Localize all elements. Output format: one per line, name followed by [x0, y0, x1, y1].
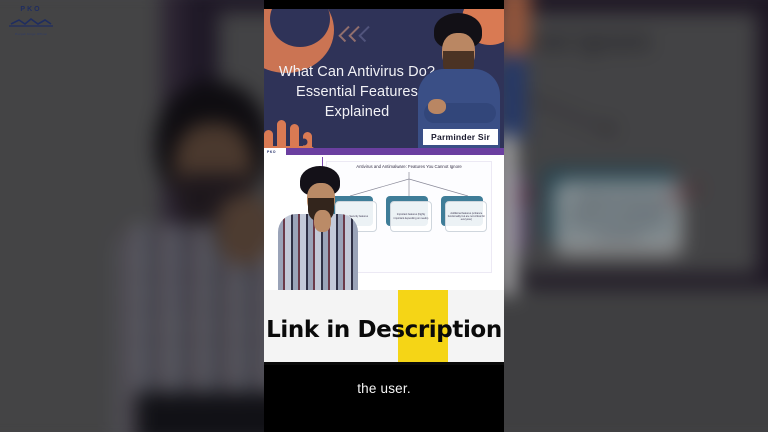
clip-feature-box-body: Additional features (enhance functionali… [445, 201, 487, 232]
background-scribble-right-icon [662, 180, 704, 203]
clip-presenter [274, 166, 360, 290]
video-player-stage: Features You Cannot Ignore Additional fe… [0, 0, 768, 432]
portrait-video-frame[interactable]: What Can Antivirus Do? Essential Feature… [264, 0, 504, 432]
clip-presenter-hand [314, 210, 331, 232]
clip-purple-header-bar [264, 148, 504, 155]
channel-logo: PKO Punjab Kings Offical [7, 6, 55, 32]
node-line-2: (enhance functionality [569, 205, 667, 217]
clip-feature-box-body: Important features (highly important dep… [390, 201, 432, 232]
background-highlight-node-label: Additional features (enhance functionali… [569, 192, 667, 245]
channel-logo-subtitle: Punjab Kings Offical [7, 32, 55, 37]
clip-brand-mark: PKO [267, 150, 276, 154]
inner-presentation-clip: PKO Antivirus and Antimalware: Features … [264, 148, 504, 290]
caption-bar: the user. [264, 365, 504, 432]
clip-feature-box-label: Additional features (enhance functionali… [447, 212, 485, 222]
node-line-4: everyone) [596, 231, 641, 243]
channel-logo-text: PKO [7, 6, 55, 14]
chevron-left-icon [342, 27, 371, 41]
node-line-3: but are not critical for [571, 218, 665, 230]
clip-feature-box-label: Important features (highly important dep… [392, 213, 430, 220]
presenter-name-badge: Parminder Sir [423, 129, 498, 145]
channel-logo-wave-icon [7, 17, 55, 27]
caption-text: the user. [264, 381, 504, 396]
clip-feature-box: Additional features (enhance functionali… [441, 196, 487, 234]
video-title-card: What Can Antivirus Do? Essential Feature… [264, 9, 504, 148]
link-in-description-banner: Link in Description [264, 290, 504, 365]
clip-feature-box: Important features (highly important dep… [386, 196, 432, 234]
title-card-hand-illustration [264, 112, 344, 148]
presenter-hand [428, 99, 446, 114]
title-card-presenter [406, 11, 502, 148]
node-line-1: Additional features [577, 192, 660, 204]
banner-text: Link in Description [264, 317, 504, 343]
video-letterbox-top [264, 0, 504, 9]
